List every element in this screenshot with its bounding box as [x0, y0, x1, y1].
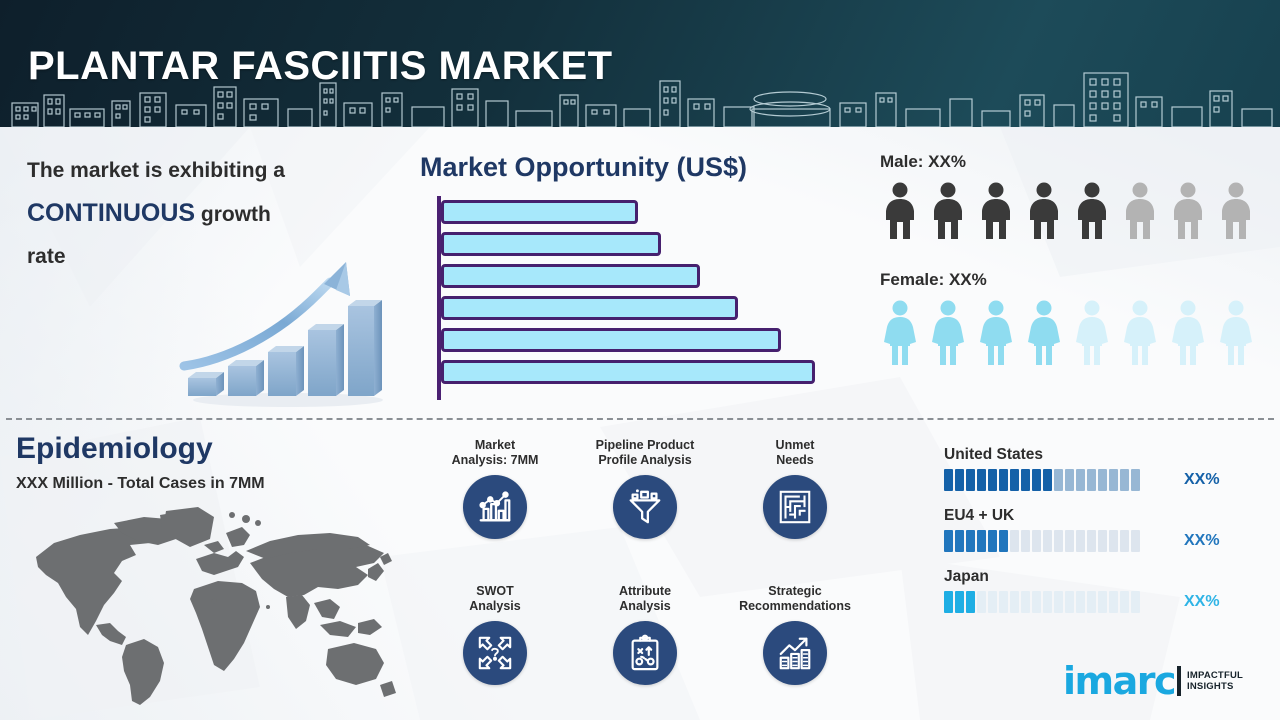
analysis-icon-label-line-2: Recommendations	[720, 599, 870, 614]
region-segment	[1043, 591, 1052, 613]
female-person-icon	[1072, 300, 1112, 366]
analysis-icon-label-line-2: Analysis	[420, 599, 570, 614]
region-segment	[1065, 469, 1074, 491]
regional-share-list: United StatesXX%EU4 + UKXX%JapanXX%	[944, 446, 1244, 629]
infographic-page: PLANTAR FASCIITIS MARKET The market is e…	[0, 0, 1280, 720]
region-segment	[1054, 469, 1063, 491]
region-segment	[955, 591, 964, 613]
region-segment	[1087, 530, 1096, 552]
region-segment	[977, 591, 986, 613]
region-bar-row: XX%	[944, 591, 1244, 613]
region-segment	[1109, 469, 1118, 491]
region-segment	[1054, 591, 1063, 613]
region-segment	[988, 469, 997, 491]
female-person-icon	[976, 300, 1016, 366]
region-segment	[1065, 530, 1074, 552]
male-pictogram-row	[880, 178, 1270, 240]
analysis-icon-label-line-1: Strategic	[720, 584, 870, 599]
region-segment	[1010, 469, 1019, 491]
female-person-icon	[880, 300, 920, 366]
region-segment	[1010, 530, 1019, 552]
chart-bar	[441, 360, 815, 384]
page-header: PLANTAR FASCIITIS MARKET	[0, 0, 1280, 127]
section-divider	[6, 418, 1274, 420]
analysis-icon-cell-growth-arrow-bars[interactable]: StrategicRecommendations	[720, 584, 870, 685]
analysis-icon-cell-four-arrows-question[interactable]: SWOTAnalysis	[420, 584, 570, 685]
male-person-icon	[1120, 182, 1160, 240]
male-person-icon	[1216, 182, 1256, 240]
world-map-icon	[18, 505, 410, 710]
region-segment	[1010, 591, 1019, 613]
male-label: Male: XX%	[880, 152, 1270, 172]
logo-tagline-line-1: IMPACTFUL	[1187, 670, 1243, 681]
region-segment	[1098, 469, 1107, 491]
analysis-icon-cell-clipboard-strategy[interactable]: AttributeAnalysis	[570, 584, 720, 685]
region-row: JapanXX%	[944, 568, 1244, 613]
region-segment	[999, 469, 1008, 491]
analysis-icon-label-line-1: Unmet	[720, 438, 870, 453]
region-segment	[1098, 530, 1107, 552]
region-segment	[1065, 591, 1074, 613]
female-person-icon	[928, 300, 968, 366]
region-segment	[1021, 530, 1030, 552]
male-person-icon	[976, 182, 1016, 240]
analysis-icon-cell-maze[interactable]: UnmetNeeds	[720, 438, 870, 539]
region-segment-track	[944, 591, 1172, 613]
region-segment	[999, 530, 1008, 552]
funnel-icon[interactable]	[613, 475, 677, 539]
region-segment	[1021, 591, 1030, 613]
growth-arrow-bars-icon[interactable]	[763, 621, 827, 685]
male-person-icon	[928, 182, 968, 240]
female-person-icon	[976, 300, 1016, 366]
region-segment	[1087, 469, 1096, 491]
male-person-icon	[1072, 182, 1112, 240]
maze-icon[interactable]	[763, 475, 827, 539]
region-segment	[1032, 469, 1041, 491]
lead-line-1: The market is exhibiting a	[27, 150, 387, 192]
region-percent-label: XX%	[1184, 593, 1220, 611]
region-segment	[1131, 530, 1140, 552]
male-person-icon	[1024, 182, 1064, 240]
region-segment	[1131, 469, 1140, 491]
region-segment	[1032, 530, 1041, 552]
female-person-icon	[1216, 300, 1256, 366]
male-person-icon	[1072, 182, 1112, 240]
female-person-icon	[1216, 300, 1256, 366]
region-segment	[944, 591, 953, 613]
chart-bars-container	[441, 200, 827, 396]
male-person-icon	[1168, 182, 1208, 240]
region-segment	[1087, 591, 1096, 613]
region-segment	[977, 530, 986, 552]
region-segment	[944, 530, 953, 552]
region-segment-track	[944, 469, 1172, 491]
logo-divider	[1177, 666, 1181, 696]
female-pictogram-row	[880, 296, 1270, 366]
region-segment	[966, 469, 975, 491]
imarc-logo: imarc IMPACTFUL INSIGHTS	[1063, 658, 1263, 704]
region-segment	[1109, 530, 1118, 552]
chart-bar	[441, 264, 700, 288]
female-person-icon	[1024, 300, 1064, 366]
region-segment	[955, 469, 964, 491]
male-person-icon	[1120, 182, 1160, 240]
male-person-icon	[1216, 182, 1256, 240]
clipboard-strategy-icon[interactable]	[613, 621, 677, 685]
four-arrows-question-icon[interactable]	[463, 621, 527, 685]
region-segment	[1098, 591, 1107, 613]
region-name: Japan	[944, 568, 1244, 586]
region-segment	[955, 530, 964, 552]
epidemiology-title: Epidemiology	[16, 432, 213, 466]
page-title: PLANTAR FASCIITIS MARKET	[28, 44, 613, 89]
male-person-icon	[1168, 182, 1208, 240]
region-segment	[988, 591, 997, 613]
lead-emphasis: CONTINUOUS	[27, 199, 195, 227]
chart-bar	[441, 328, 781, 352]
region-percent-label: XX%	[1184, 532, 1220, 550]
analysis-icon-grid: MarketAnalysis: 7MMPipeline ProductProfi…	[420, 438, 870, 708]
female-person-icon	[1120, 300, 1160, 366]
female-person-icon	[928, 300, 968, 366]
chart-bar	[441, 232, 661, 256]
region-segment	[944, 469, 953, 491]
male-person-icon	[976, 182, 1016, 240]
region-bar-row: XX%	[944, 530, 1244, 552]
logo-wordmark: imarc	[1063, 662, 1175, 700]
region-segment	[977, 469, 986, 491]
region-segment	[1076, 591, 1085, 613]
analysis-icon-cell-funnel[interactable]: Pipeline ProductProfile Analysis	[570, 438, 720, 539]
epidemiology-subtitle: XXX Million - Total Cases in 7MM	[16, 475, 265, 493]
female-person-icon	[1072, 300, 1112, 366]
chart-bar	[441, 296, 738, 320]
female-person-icon	[1120, 300, 1160, 366]
region-name: EU4 + UK	[944, 507, 1244, 525]
female-person-icon	[1168, 300, 1208, 366]
region-segment	[1054, 530, 1063, 552]
male-person-icon	[928, 182, 968, 240]
market-opportunity-chart	[437, 196, 827, 400]
region-segment	[1120, 469, 1129, 491]
region-segment	[1043, 469, 1052, 491]
ascending-3d-bar-chart-with-arrow-icon	[178, 248, 393, 408]
region-segment	[988, 530, 997, 552]
analysis-icon-label-line-1: Market	[420, 438, 570, 453]
region-row: EU4 + UKXX%	[944, 507, 1244, 552]
male-person-icon	[880, 182, 920, 240]
female-label: Female: XX%	[880, 270, 1270, 290]
region-segment	[1109, 591, 1118, 613]
analysis-icon-label-line-2: Analysis: 7MM	[420, 453, 570, 468]
region-segment	[1032, 591, 1041, 613]
market-opportunity-title: Market Opportunity (US$)	[420, 152, 747, 183]
region-segment	[1120, 591, 1129, 613]
logo-tagline: IMPACTFUL INSIGHTS	[1187, 670, 1243, 692]
region-segment-track	[944, 530, 1172, 552]
analysis-icon-label-line-2: Needs	[720, 453, 870, 468]
region-segment	[999, 591, 1008, 613]
region-segment	[966, 591, 975, 613]
region-segment	[1120, 530, 1129, 552]
region-segment	[1076, 469, 1085, 491]
analysis-icon-label-line-2: Profile Analysis	[570, 453, 720, 468]
gender-distribution: Male: XX% Female: XX%	[880, 152, 1270, 366]
analysis-icon-cell-bar-chart-trend[interactable]: MarketAnalysis: 7MM	[420, 438, 570, 539]
analysis-icon-label-line-1: SWOT	[420, 584, 570, 599]
region-segment	[1021, 469, 1030, 491]
region-segment	[1076, 530, 1085, 552]
female-person-icon	[880, 300, 920, 366]
chart-bar	[441, 200, 638, 224]
region-bar-row: XX%	[944, 469, 1244, 491]
analysis-icon-label-line-1: Attribute	[570, 584, 720, 599]
analysis-icon-label-line-2: Analysis	[570, 599, 720, 614]
region-row: United StatesXX%	[944, 446, 1244, 491]
bar-chart-trend-icon[interactable]	[463, 475, 527, 539]
lead-line-2-rest: growth	[195, 203, 271, 226]
logo-tagline-line-2: INSIGHTS	[1187, 681, 1243, 692]
analysis-icon-label-line-1: Pipeline Product	[570, 438, 720, 453]
region-name: United States	[944, 446, 1244, 464]
male-person-icon	[880, 182, 920, 240]
region-segment	[1043, 530, 1052, 552]
lead-line-2: CONTINUOUS growth	[27, 192, 387, 236]
female-person-icon	[1168, 300, 1208, 366]
female-person-icon	[1024, 300, 1064, 366]
region-percent-label: XX%	[1184, 471, 1220, 489]
region-segment	[966, 530, 975, 552]
male-person-icon	[1024, 182, 1064, 240]
region-segment	[1131, 591, 1140, 613]
